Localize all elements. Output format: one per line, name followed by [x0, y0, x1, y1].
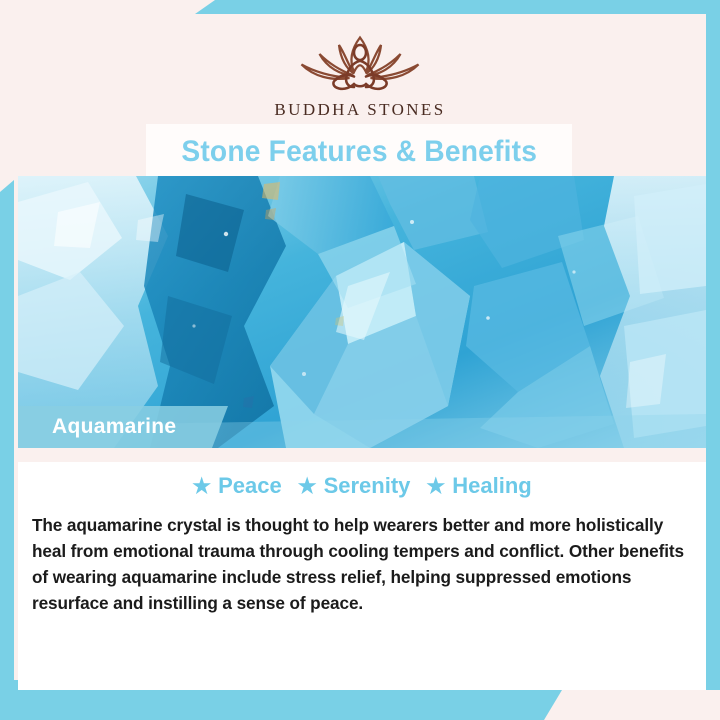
brand-header: BUDDHA STONES — [14, 14, 706, 124]
stone-name-label: Aquamarine — [52, 415, 176, 439]
brand-name: BUDDHA STONES — [274, 100, 445, 120]
content-panel: ★ Peace ★ Serenity ★ Healing The aquamar… — [18, 462, 706, 690]
star-icon: ★ — [192, 476, 211, 497]
star-icon: ★ — [298, 476, 317, 497]
page-title: Stone Features & Benefits — [181, 135, 537, 169]
stone-benefits-card: BUDDHA STONES Stone Features & Benefits — [0, 0, 720, 720]
benefit-label: Serenity — [324, 473, 411, 499]
title-banner: Stone Features & Benefits — [146, 124, 572, 180]
benefits-row: ★ Peace ★ Serenity ★ Healing — [24, 462, 700, 506]
benefit-item-healing: ★ Healing — [426, 473, 531, 499]
crystal-hero-image: Aquamarine — [18, 176, 706, 448]
top-decorative-band — [195, 0, 720, 14]
stone-name-tag: Aquamarine — [18, 406, 228, 448]
benefit-item-peace: ★ Peace — [192, 473, 281, 499]
description-paragraph: The aquamarine crystal is thought to hel… — [32, 512, 692, 617]
bottom-decorative-band — [0, 690, 562, 720]
left-decorative-band — [0, 180, 14, 700]
image-content-divider — [18, 448, 706, 462]
benefit-item-serenity: ★ Serenity — [298, 473, 411, 499]
benefit-label: Peace — [218, 473, 282, 499]
lotus-meditation-icon — [285, 30, 435, 96]
star-icon: ★ — [426, 476, 445, 497]
right-decorative-band — [706, 0, 720, 690]
benefit-label: Healing — [452, 473, 531, 499]
